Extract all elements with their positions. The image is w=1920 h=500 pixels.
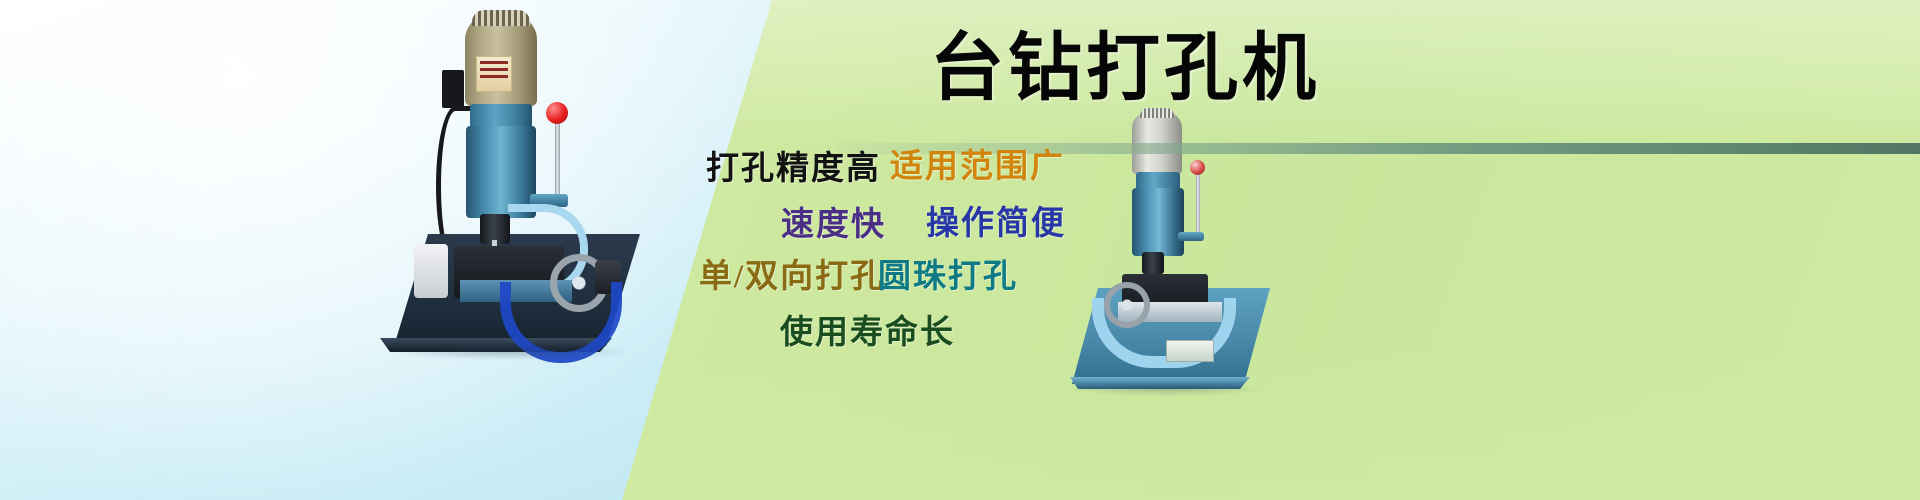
drill-press-left-image	[380, 8, 650, 368]
motor-collar	[470, 104, 532, 128]
lever-knob	[546, 102, 568, 124]
drill-press-right-image	[1070, 112, 1280, 412]
feature-bead: 圆珠打孔	[878, 249, 1018, 297]
lever-arm	[1178, 232, 1204, 241]
feature-speed: 速度快	[781, 197, 886, 245]
feature-lifespan: 使用寿命长	[780, 305, 955, 353]
motor-vent	[472, 10, 530, 26]
feature-direction: 单/双向打孔	[699, 249, 885, 297]
feature-precision: 打孔精度高	[706, 141, 881, 189]
drill-chuck	[1142, 252, 1164, 274]
feature-easy: 操作简便	[926, 196, 1066, 244]
junction-box	[442, 70, 464, 108]
side-block	[414, 244, 448, 298]
lever-stem	[1196, 170, 1200, 238]
product-tag	[1166, 340, 1214, 362]
machine-shadow	[390, 344, 630, 360]
lever-stem	[555, 116, 560, 201]
product-banner: 台钻打孔机 打孔精度高 适用范围广 速度快 操作简便 单/双向打孔 圆珠打孔 使…	[0, 0, 1920, 500]
drill-head	[1132, 188, 1184, 256]
banner-title: 台钻打孔机	[930, 32, 1320, 107]
lever-knob	[1190, 160, 1205, 175]
feature-range: 适用范围广	[890, 139, 1065, 187]
motor-label	[476, 56, 512, 92]
machine-shadow	[1070, 382, 1262, 396]
